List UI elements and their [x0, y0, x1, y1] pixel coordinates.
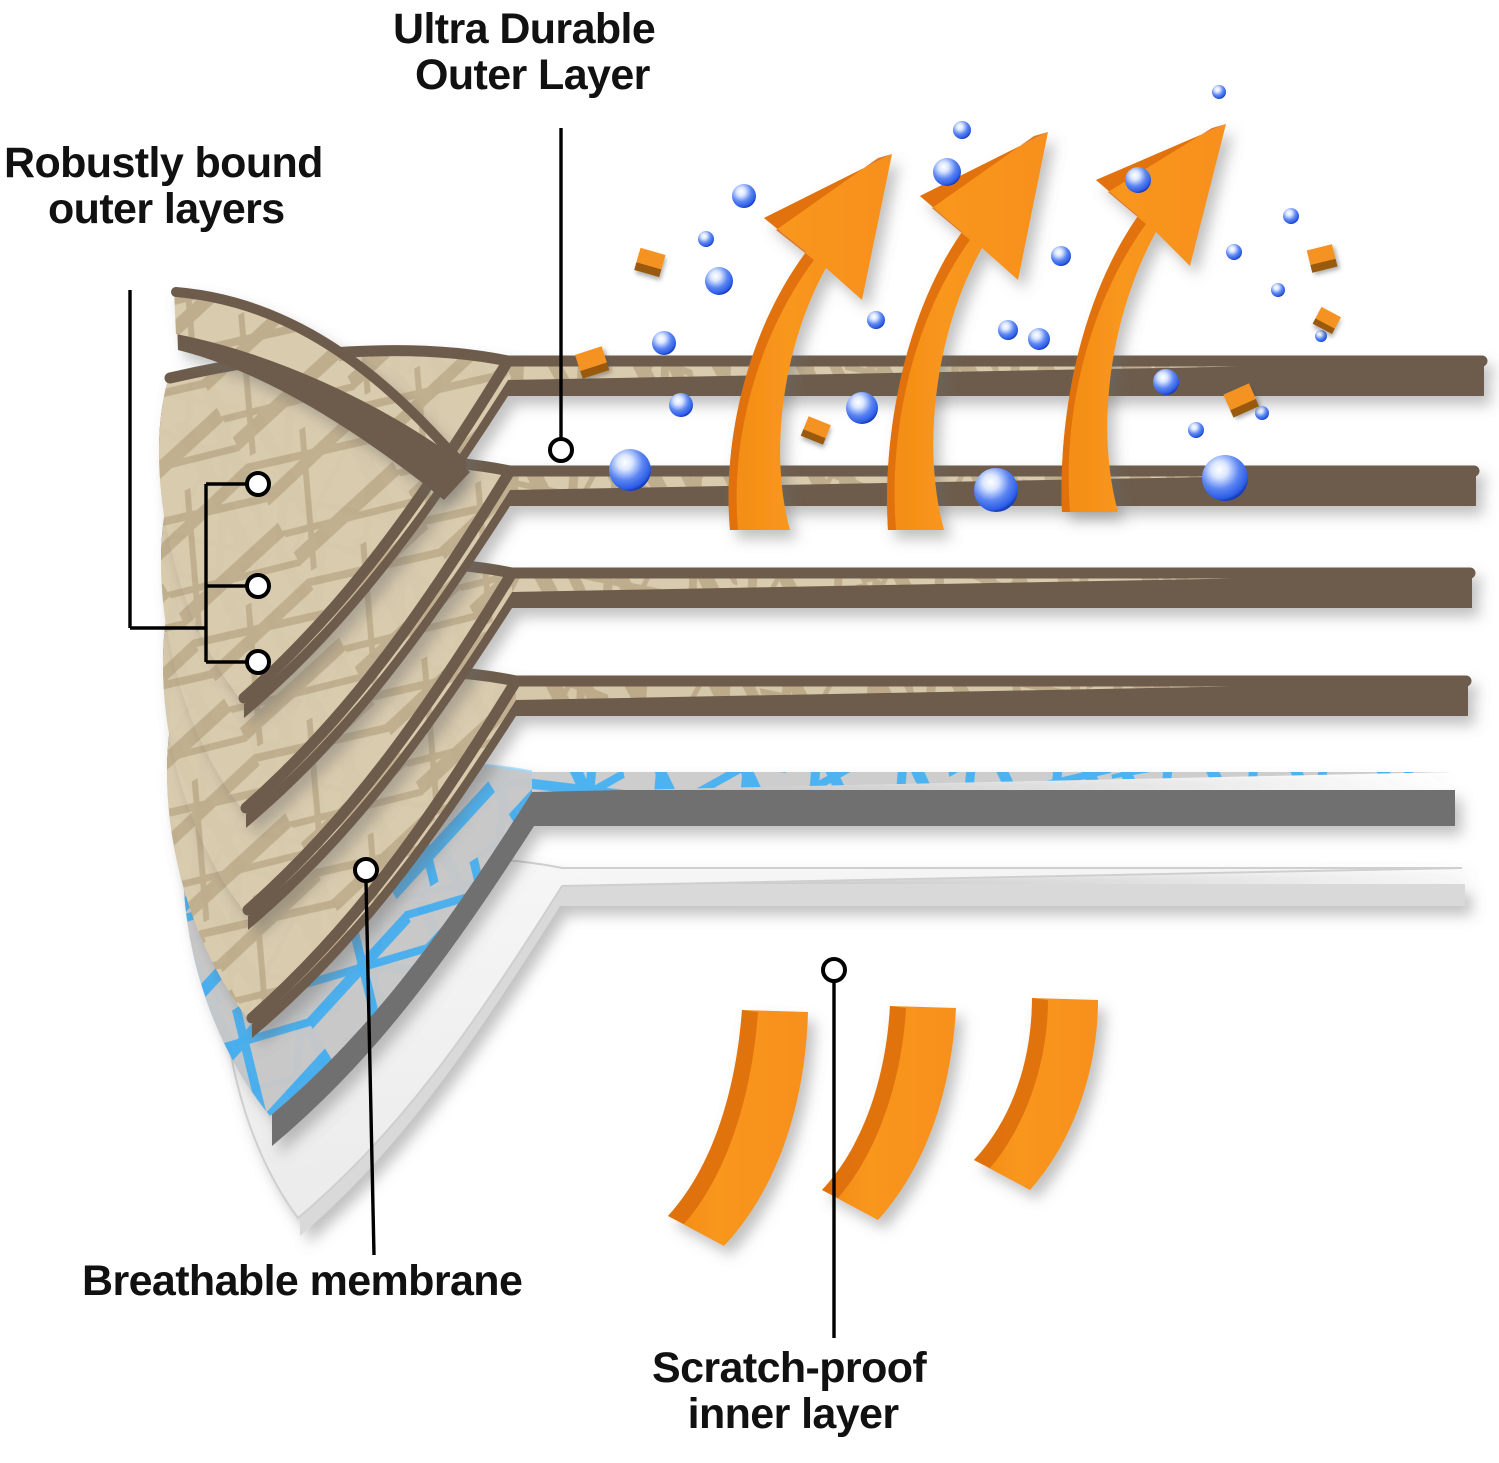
droplet: [1125, 167, 1151, 193]
diagram-canvas: Ultra Durable Outer Layer Robustly bound…: [0, 0, 1499, 1463]
label-line-2: Outer Layer: [415, 52, 655, 98]
droplet: [933, 158, 961, 186]
droplet: [1315, 330, 1327, 342]
label-scratch-proof-inner-layer: Scratch-proof inner layer: [652, 1345, 926, 1438]
dirt-cube: [801, 416, 831, 444]
droplet: [846, 392, 878, 424]
droplet: [1153, 369, 1179, 395]
droplet: [998, 320, 1018, 340]
droplet: [698, 231, 714, 247]
droplet: [1212, 85, 1226, 99]
dirt-cube: [1307, 244, 1338, 273]
droplet: [732, 184, 756, 208]
label-ultra-durable-outer-layer: Ultra Durable Outer Layer: [393, 6, 655, 99]
label-line-1: Breathable membrane: [82, 1257, 522, 1305]
leader-ultra-durable: [550, 128, 572, 461]
droplet: [669, 393, 693, 417]
droplet: [652, 331, 676, 355]
label-robustly-bound-outer-layers: Robustly bound outer layers: [4, 140, 323, 233]
droplet: [705, 267, 733, 295]
droplet: [1255, 406, 1269, 420]
droplet: [1028, 328, 1050, 350]
arrow-inward-3: [974, 998, 1098, 1190]
dirt-cube: [634, 248, 665, 277]
droplet: [1051, 246, 1071, 266]
label-line-1: Scratch-proof: [652, 1345, 926, 1391]
leader-scratch-proof: [823, 959, 845, 1338]
droplet: [1202, 455, 1248, 501]
label-line-2: inner layer: [660, 1391, 926, 1437]
droplet: [1226, 244, 1242, 260]
label-line-2: outer layers: [48, 186, 323, 232]
airflow-arrows-inward: [668, 998, 1098, 1246]
droplet: [867, 311, 885, 329]
label-breathable-membrane: Breathable membrane: [82, 1258, 522, 1304]
dirt-cube: [1313, 307, 1341, 334]
droplet: [1283, 208, 1299, 224]
droplet: [1188, 422, 1204, 438]
label-line-1: Ultra Durable: [393, 6, 655, 52]
droplet: [1271, 283, 1285, 297]
droplet: [609, 449, 651, 491]
label-line-1: Robustly bound: [4, 140, 323, 186]
droplet: [974, 468, 1018, 512]
arrow-inward-2: [822, 1006, 956, 1220]
droplet: [953, 121, 971, 139]
arrow-inward-1: [668, 1010, 808, 1246]
